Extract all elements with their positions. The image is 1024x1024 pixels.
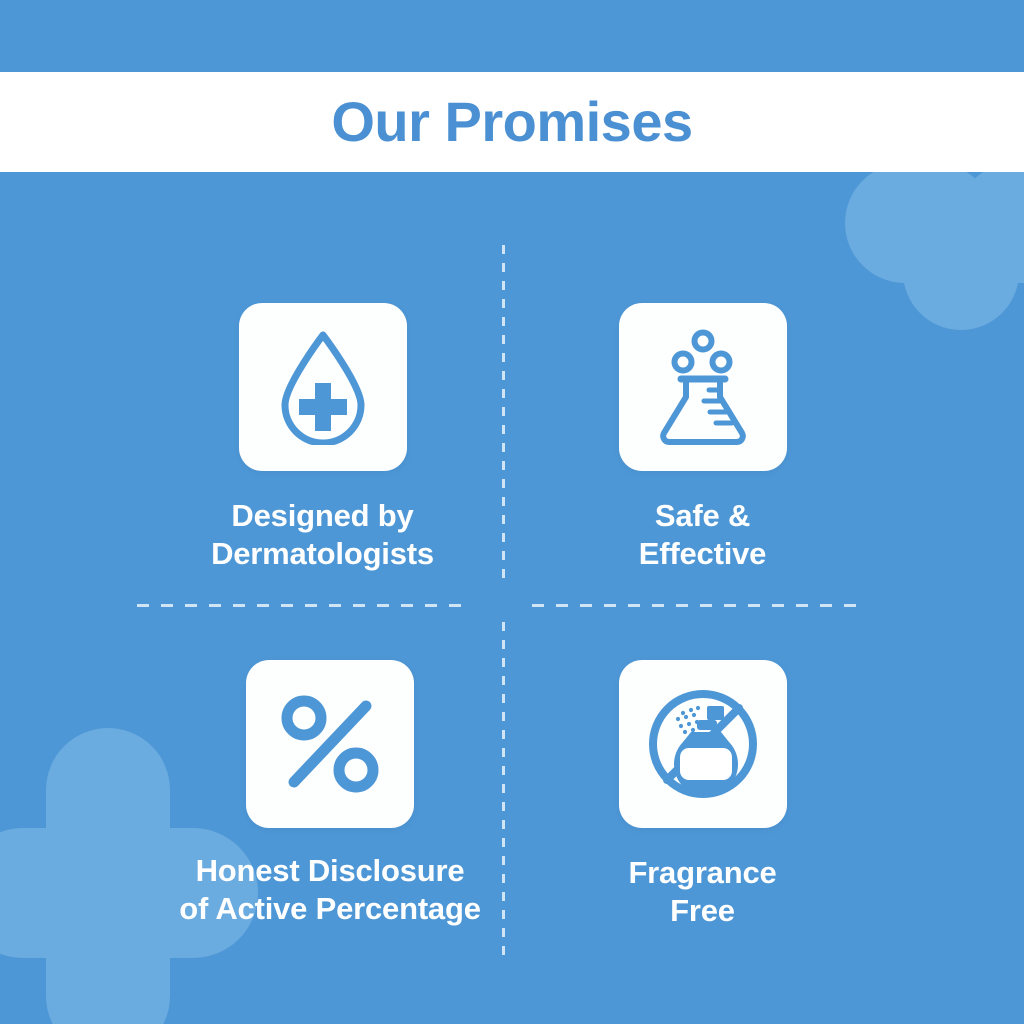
promise-item-designed-by-dermatologists: Designed by Dermatologists — [150, 303, 495, 573]
water-drop-plus-icon — [271, 329, 375, 445]
divider-horizontal-left — [137, 604, 471, 607]
promise-label: Fragrance Free — [628, 854, 776, 930]
lab-flask-icon — [648, 329, 758, 445]
promise-icon-card — [246, 660, 414, 828]
clover-lobe — [955, 163, 1024, 283]
divider-horizontal-right — [532, 604, 864, 607]
promise-item-honest-disclosure: Honest Disclosure of Active Percentage — [150, 660, 510, 928]
clover-lobe — [845, 163, 995, 283]
page-title: Our Promises — [331, 94, 692, 150]
divider-vertical-top — [502, 245, 505, 585]
title-band: Our Promises — [0, 72, 1024, 172]
promise-label: Honest Disclosure of Active Percentage — [179, 852, 481, 928]
clover-lobe — [903, 205, 1019, 330]
promise-icon-card — [239, 303, 407, 471]
promise-icon-card — [619, 660, 787, 828]
promise-icon-card — [619, 303, 787, 471]
promises-infographic: Our Promises Designed by Dermatologists — [0, 0, 1024, 1024]
promise-label: Safe & Effective — [639, 497, 766, 573]
percent-icon — [276, 690, 384, 798]
promise-label: Designed by Dermatologists — [211, 497, 434, 573]
promise-item-safe-and-effective: Safe & Effective — [530, 303, 875, 573]
promise-item-fragrance-free: Fragrance Free — [530, 660, 875, 930]
no-fragrance-icon — [645, 686, 761, 802]
